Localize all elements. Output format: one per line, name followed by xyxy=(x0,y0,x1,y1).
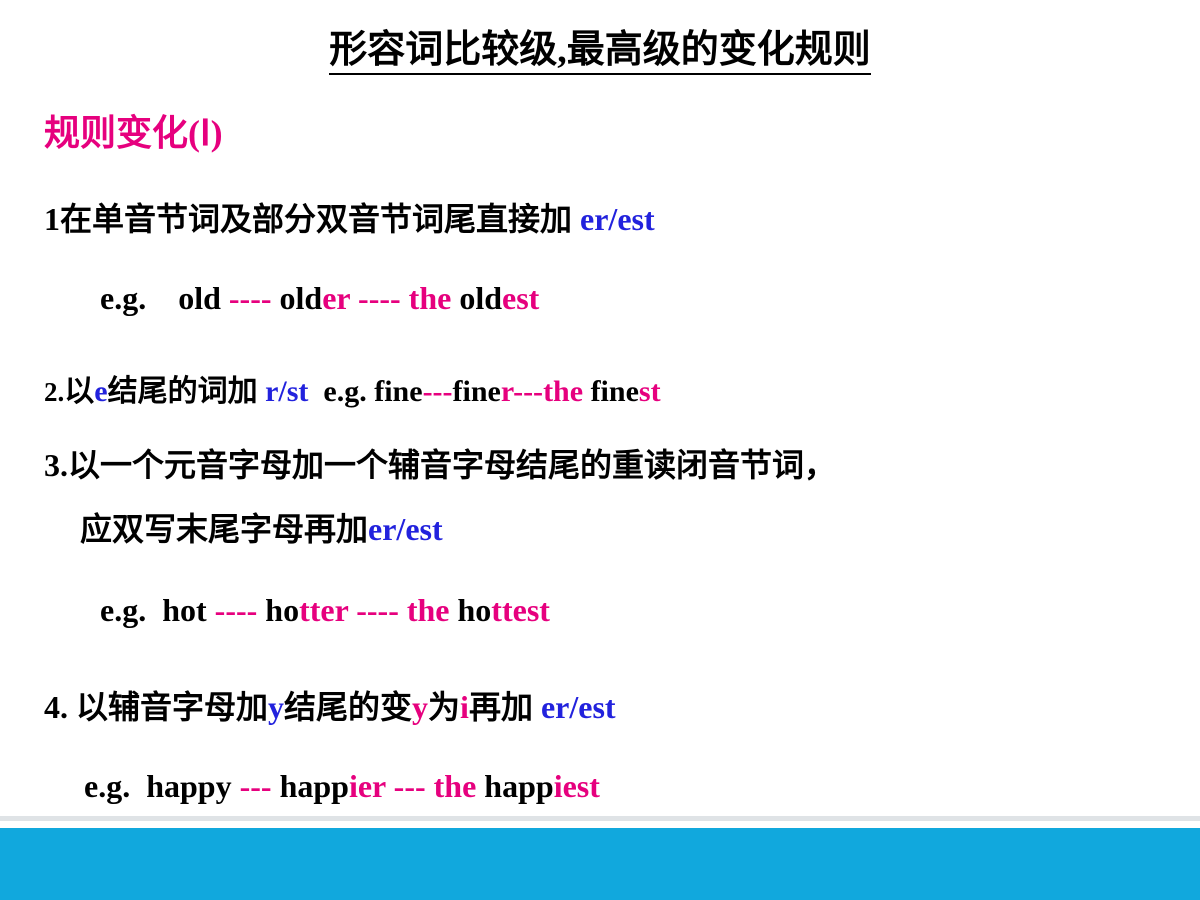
rule-4-pre: 以辅音字母加 xyxy=(68,689,268,725)
eg4-comp-suffix: ier xyxy=(349,768,386,804)
eg3-dash-1: ---- xyxy=(215,592,258,628)
eg1-comp-stem: old xyxy=(280,280,323,316)
rule-2-letter-e: e xyxy=(94,375,107,408)
rule-2-number: 2. xyxy=(44,377,64,407)
page-title: 形容词比较级,最高级的变化规则 xyxy=(0,18,1200,73)
eg2-sup-suffix: st xyxy=(639,375,661,408)
eg-label: e.g. xyxy=(100,280,146,316)
rule-4-letter-y1: y xyxy=(268,689,284,725)
rule-3-example: e.g. hot ---- hotter ---- the hottest xyxy=(100,592,550,629)
rule-3-text-line1: 3.以一个元音字母加一个辅音字母结尾的重读闭音节词， xyxy=(44,440,836,486)
rule-4-number: 4. xyxy=(44,689,68,725)
eg2-the: the xyxy=(543,375,583,408)
eg3-the: the xyxy=(407,592,450,628)
eg4-the: the xyxy=(434,768,477,804)
rule-1-example: e.g. old ---- older ---- the oldest xyxy=(100,280,539,317)
eg1-sup-suffix: est xyxy=(502,280,539,316)
eg1-base: old xyxy=(178,280,221,316)
rule-1-text: 1在单音节词及部分双音节词尾直接加 er/est xyxy=(44,194,655,240)
eg4-dash-1: --- xyxy=(240,768,272,804)
eg1-comp-suffix: er xyxy=(322,280,350,316)
eg2-comp-suffix: r xyxy=(501,375,513,408)
rule-3-cn-2: 应双写末尾字母再加 xyxy=(80,511,368,547)
rule-3-number: 3. xyxy=(44,447,68,483)
rule-4-text: 4. 以辅音字母加y结尾的变y为i再加 er/est xyxy=(44,682,616,728)
rule-4-mid2: 为 xyxy=(428,689,460,725)
rule-1-cn: 在单音节词及部分双音节词尾直接加 xyxy=(60,201,580,237)
eg3-base: hot xyxy=(162,592,206,628)
rule-3-suffix: er/est xyxy=(368,511,443,547)
rule-4-example: e.g. happy --- happier --- the happiest xyxy=(84,768,600,805)
rule-2-text: 2.以e结尾的词加 r/st e.g. fine---finer---the f… xyxy=(44,366,661,410)
rule-2-mid: 结尾的词加 xyxy=(108,375,266,408)
rule-4-letter-y2: y xyxy=(412,689,428,725)
eg4-comp-stem: happ xyxy=(280,768,349,804)
eg4-sup-stem: happ xyxy=(484,768,553,804)
eg3-comp-stem: ho xyxy=(265,592,299,628)
rule-heading: 规则变化(Ⅰ) xyxy=(44,104,223,156)
eg1-dash-2: ---- xyxy=(358,280,401,316)
rule-1-suffix: er/est xyxy=(580,201,655,237)
page-title-text: 形容词比较级,最高级的变化规则 xyxy=(329,29,871,75)
rule-2-pre: 以 xyxy=(64,375,94,408)
rule-2-suffix: r/st xyxy=(265,375,308,408)
eg3-sup-suffix: ttest xyxy=(491,592,550,628)
footer-band xyxy=(0,828,1200,900)
eg3-sup-stem: ho xyxy=(458,592,492,628)
eg2-dash-1: --- xyxy=(423,375,453,408)
rule-4-mid3: 再加 xyxy=(469,689,541,725)
rule-4-letter-i: i xyxy=(460,689,469,725)
rule-1-number: 1 xyxy=(44,201,60,237)
eg1-sup-stem: old xyxy=(459,280,502,316)
footer-divider-white xyxy=(0,821,1200,828)
eg3-label: e.g. xyxy=(100,592,146,628)
rule-3-text-line2: 应双写末尾字母再加er/est xyxy=(80,504,443,550)
eg4-label: e.g. xyxy=(84,768,130,804)
eg2-label: e.g. xyxy=(323,375,366,408)
eg4-sup-suffix: iest xyxy=(554,768,600,804)
eg4-dash-2: --- xyxy=(394,768,426,804)
eg2-sup-stem: fine xyxy=(591,375,639,408)
rule-4-suffix: er/est xyxy=(541,689,616,725)
eg1-the: the xyxy=(409,280,452,316)
eg2-base: fine xyxy=(374,375,422,408)
slide-canvas: 形容词比较级,最高级的变化规则 规则变化(Ⅰ) 1在单音节词及部分双音节词尾直接… xyxy=(0,0,1200,900)
eg1-dash-1: ---- xyxy=(229,280,272,316)
rule-4-mid: 结尾的变 xyxy=(284,689,412,725)
rule-3-cn-1: 以一个元音字母加一个辅音字母结尾的重读闭音节词， xyxy=(68,447,836,483)
eg2-comp-stem: fine xyxy=(453,375,501,408)
eg3-comp-suffix: tter xyxy=(299,592,348,628)
eg4-base: happy xyxy=(146,768,231,804)
eg3-dash-2: ---- xyxy=(356,592,399,628)
eg2-dash-2: --- xyxy=(513,375,543,408)
